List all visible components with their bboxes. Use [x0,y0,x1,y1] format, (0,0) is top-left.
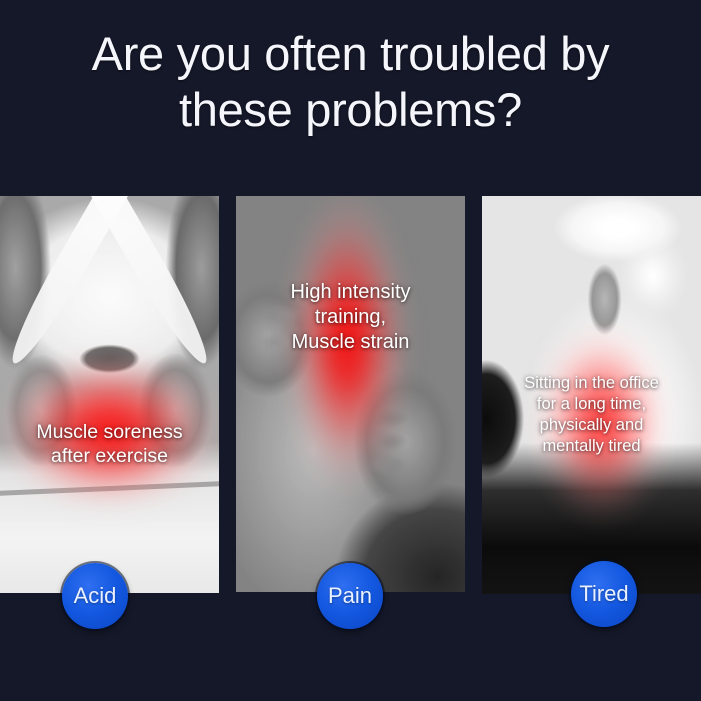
shoulder-pain-photo [236,196,465,592]
badge-pain[interactable]: Pain [317,563,383,629]
office-worker-pain-photo [482,196,701,594]
problem-panels: Muscle soreness after exercise High inte… [0,196,701,596]
page-title: Are you often troubled by these problems… [0,26,701,138]
panel-tired[interactable]: Sitting in the office for a long time, p… [482,196,701,594]
lower-back-pain-photo [0,196,219,593]
badge-tired[interactable]: Tired [571,561,637,627]
panel-muscle-strain[interactable]: High intensity training, Muscle strain [236,196,465,592]
panel-muscle-soreness[interactable]: Muscle soreness after exercise [0,196,219,593]
badge-acid[interactable]: Acid [62,563,128,629]
sports-bra-straps [0,196,219,593]
promo-poster: Are you often troubled by these problems… [0,0,701,701]
